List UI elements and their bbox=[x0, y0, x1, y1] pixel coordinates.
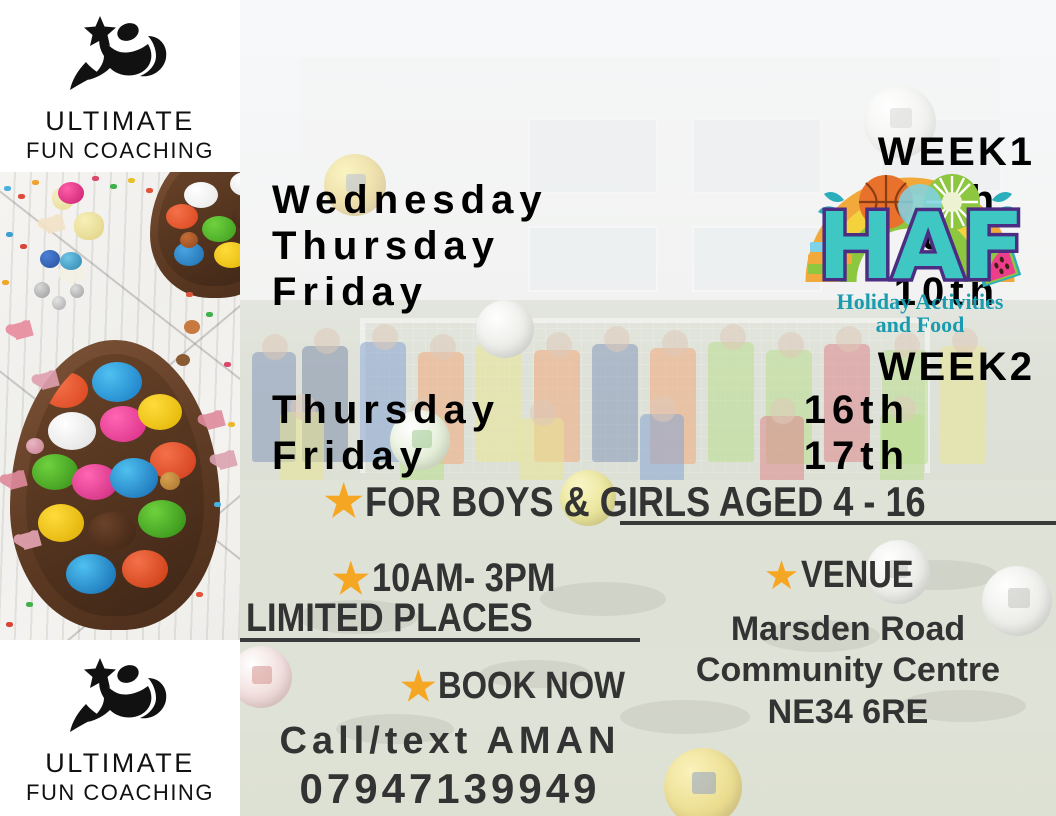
logo-word-ultimate: ULTIMATE bbox=[45, 750, 195, 777]
phone-number: 07947139949 bbox=[240, 766, 660, 812]
ages-text: FOR BOYS & GIRLS AGED 4 - 16 bbox=[365, 478, 926, 526]
venue-label: VENUE bbox=[801, 554, 914, 597]
easter-football-poster: ULTIMATE FUN COACHING bbox=[0, 0, 1056, 816]
easter-candy-photo bbox=[0, 172, 240, 640]
divider-1 bbox=[620, 521, 1056, 525]
running-figure-with-star-logo-icon bbox=[56, 10, 184, 106]
week2-date-0: 16th bbox=[470, 390, 910, 430]
week2-day-1: Friday bbox=[272, 436, 428, 476]
times-text: 10AM- 3PM bbox=[372, 556, 556, 601]
haf-subtitle-line1: Holiday Activities bbox=[800, 290, 1040, 313]
star-icon: ★ bbox=[764, 556, 800, 596]
running-figure-with-star-logo-icon bbox=[56, 652, 184, 748]
book-now-text: BOOK NOW bbox=[438, 665, 625, 708]
limited-places-text: LIMITED PLACES bbox=[246, 596, 642, 641]
haf-subtitle-line2: and Food bbox=[800, 313, 1040, 336]
star-icon: ★ bbox=[324, 480, 363, 524]
week2-date-1: 17th bbox=[470, 436, 910, 476]
venue-line-1: Community Centre bbox=[640, 650, 1056, 691]
call-text-line: Call/text AMAN bbox=[240, 718, 660, 766]
venue-line-2: NE34 6RE bbox=[640, 692, 1056, 733]
venue-block: ★ VENUE Marsden Road Community Centre NE… bbox=[640, 554, 1056, 733]
star-icon: ★ bbox=[400, 667, 436, 707]
week1-day-1: Thursday bbox=[272, 226, 500, 266]
star-icon: ★ bbox=[332, 558, 370, 600]
logo-word-ultimate: ULTIMATE bbox=[45, 108, 195, 135]
left-column: ULTIMATE FUN COACHING bbox=[0, 0, 240, 816]
logo-bottom: ULTIMATE FUN COACHING bbox=[0, 640, 240, 816]
svg-text:HAF: HAF bbox=[817, 193, 1022, 300]
ages-line: ★ FOR BOYS & GIRLS AGED 4 - 16 bbox=[324, 478, 1056, 526]
book-now-block: ★ BOOK NOW Call/text AMAN 07947139949 bbox=[240, 665, 660, 812]
haf-logo-graphic: HAF bbox=[800, 166, 1040, 306]
logo-top: ULTIMATE FUN COACHING bbox=[0, 0, 240, 172]
venue-line-0: Marsden Road bbox=[640, 609, 1056, 650]
haf-subtitle: Holiday Activities and Food bbox=[800, 290, 1040, 337]
week1-day-2: Friday bbox=[272, 272, 428, 312]
poster-main-panel: EASTER FOOTBALL WEEK1 Wednesday 8th Thur… bbox=[240, 0, 1056, 816]
haf-logo: HAF Holiday Activities and Food bbox=[800, 166, 1040, 362]
logo-word-fun-coaching: FUN COACHING bbox=[26, 782, 214, 804]
logo-word-fun-coaching: FUN COACHING bbox=[26, 140, 214, 162]
times-line: ★ 10AM- 3PM bbox=[332, 556, 585, 601]
week2-day-0: Thursday bbox=[272, 390, 500, 430]
divider-2 bbox=[240, 638, 640, 642]
